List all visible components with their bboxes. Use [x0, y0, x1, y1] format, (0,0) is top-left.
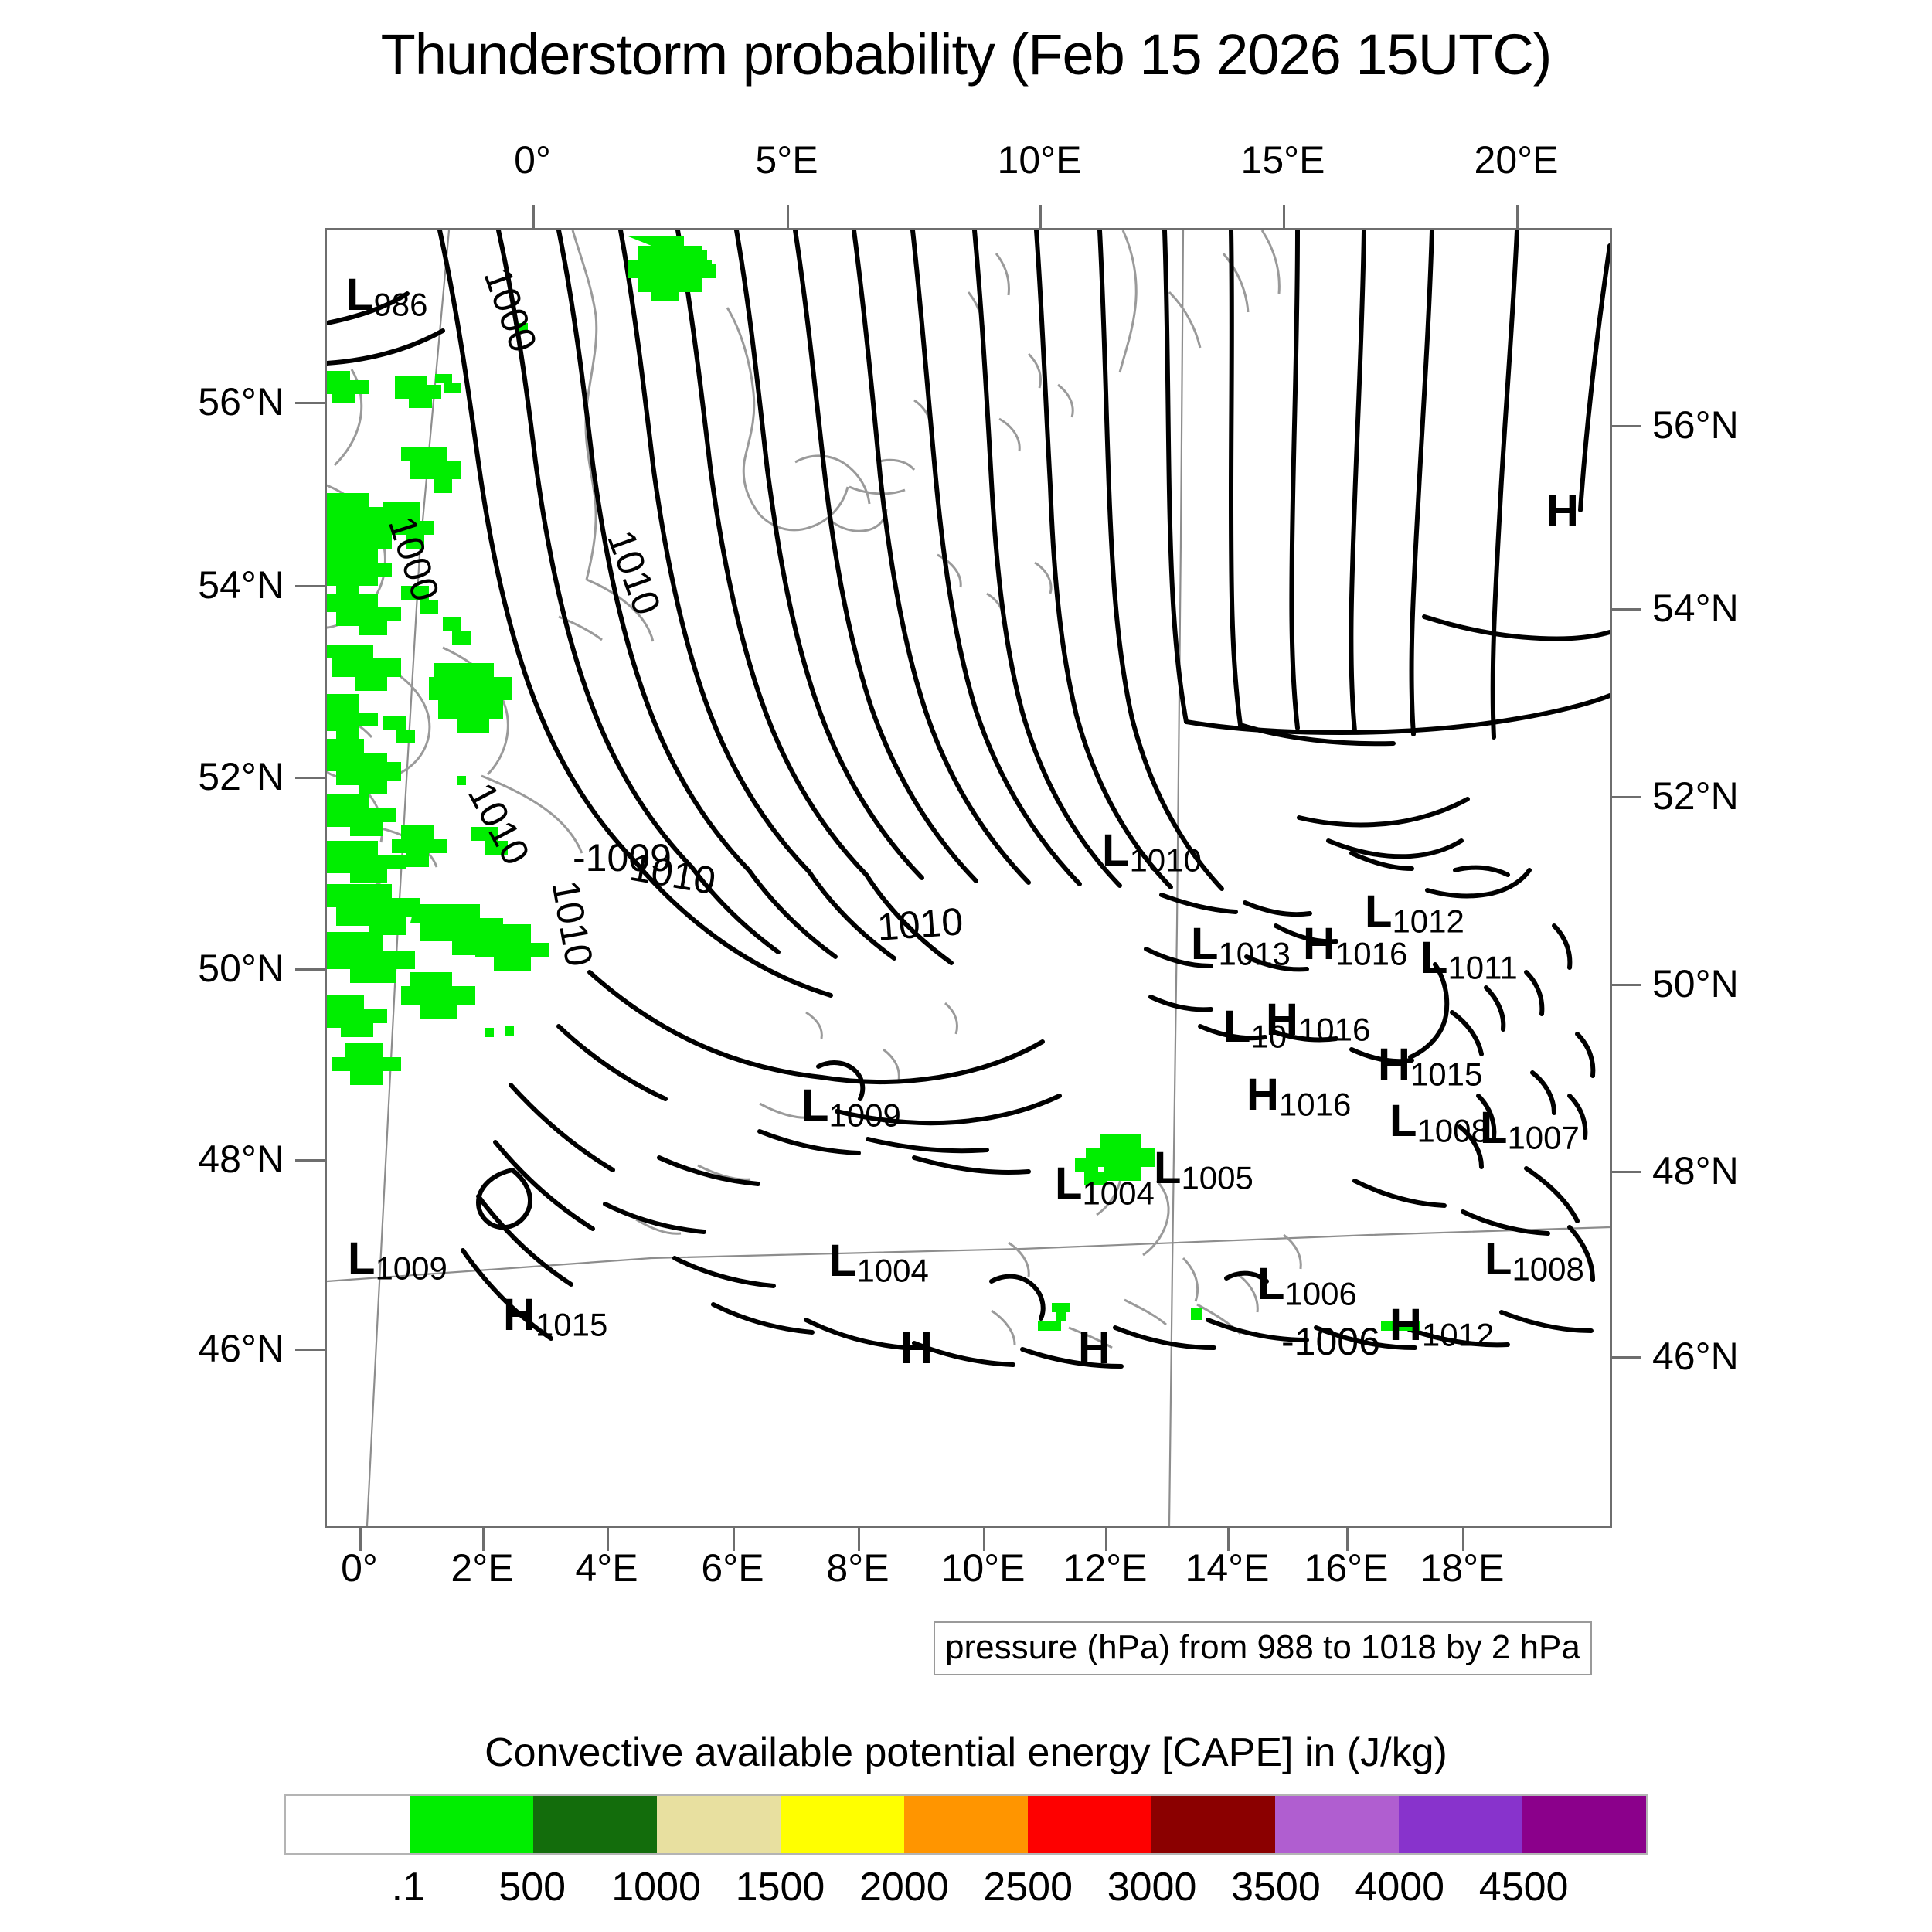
axis-tick-label: 48°N [1652, 1148, 1739, 1193]
axis-tick-label: 12°E [1063, 1546, 1148, 1590]
pressure-center-label: L1004 [829, 1239, 929, 1287]
axis-tick-mark [983, 1528, 985, 1551]
axis-tick-mark [1612, 608, 1641, 611]
colorbar-tick-label: .1 [392, 1864, 425, 1910]
axis-tick-mark [1612, 425, 1641, 427]
axis-tick-mark [1612, 1356, 1641, 1359]
pressure-center-value: 1008 [1512, 1251, 1583, 1287]
pressure-legend-box: pressure (hPa) from 988 to 1018 by 2 hPa [934, 1621, 1592, 1675]
pressure-center-label: L1009 [801, 1083, 901, 1132]
axis-tick-mark [607, 1528, 609, 1551]
pressure-center-label: L1011 [1420, 936, 1518, 985]
axis-tick-mark [1039, 205, 1042, 228]
pressure-center-label: H [1078, 1326, 1111, 1375]
axis-tick-mark [1346, 1528, 1349, 1551]
axis-tick-mark [295, 1159, 325, 1162]
map-panel[interactable]: L986HL1010L1012L1013H1016L1011L10H1016H1… [325, 228, 1612, 1528]
colorbar-swatch[interactable] [1522, 1796, 1646, 1853]
pressure-center-label: L986 [346, 273, 428, 321]
pressure-center-label: H1015 [1378, 1043, 1482, 1091]
colorbar-swatch[interactable] [657, 1796, 781, 1853]
pressure-center-value: 1016 [1335, 936, 1407, 972]
pressure-center-value: 1004 [856, 1253, 928, 1289]
pressure-center-value: 1004 [1082, 1175, 1154, 1212]
pressure-center-value: 1007 [1507, 1120, 1579, 1156]
colorbar-swatch[interactable] [1151, 1796, 1275, 1853]
pressure-center-value: 1015 [1410, 1056, 1482, 1093]
axis-tick-label: 4°E [575, 1546, 638, 1590]
axis-tick-label: 5°E [755, 138, 818, 182]
axis-tick-label: 6°E [701, 1546, 764, 1590]
pressure-center-value: 1009 [375, 1250, 447, 1287]
pressure-legend-text: pressure (hPa) from 988 to 1018 by 2 hPa [945, 1628, 1580, 1666]
colorbar-tick-label: 500 [498, 1864, 566, 1910]
axis-tick-label: 46°N [1652, 1334, 1739, 1379]
axis-tick-mark [1516, 205, 1519, 228]
contour-inline-label: -1009 [573, 838, 672, 877]
colorbar-tick-labels: .150010001500200025003000350040004500 [284, 1864, 1648, 1910]
axis-tick-label: 52°N [1652, 774, 1739, 818]
colorbar-swatch[interactable] [533, 1796, 657, 1853]
axis-tick-mark [1612, 1171, 1641, 1173]
pressure-center-label: L1006 [1257, 1262, 1357, 1311]
pressure-center-type: H [1303, 919, 1335, 969]
pressure-center-label: L1005 [1154, 1146, 1253, 1195]
pressure-center-value: 1011 [1447, 950, 1517, 986]
pressure-center-label: H1016 [1266, 998, 1370, 1046]
pressure-center-type: H [1078, 1323, 1111, 1373]
axis-tick-mark [787, 205, 789, 228]
axis-tick-mark [1105, 1528, 1107, 1551]
axis-tick-mark [1612, 796, 1641, 798]
pressure-center-type: H [1266, 995, 1298, 1045]
axis-tick-mark [482, 1528, 485, 1551]
axis-tick-label: 50°N [198, 946, 284, 991]
weather-map-figure: Thunderstorm probability (Feb 15 2026 15… [0, 0, 1932, 1932]
pressure-center-type: H [1546, 486, 1579, 536]
colorbar[interactable] [284, 1794, 1648, 1855]
pressure-center-label: L1008 [1389, 1099, 1489, 1148]
pressure-center-type: L [801, 1080, 828, 1131]
pressure-center-label: L1008 [1485, 1237, 1584, 1286]
pressure-center-label: H1016 [1247, 1073, 1351, 1121]
axis-tick-mark [1612, 984, 1641, 986]
pressure-center-type: L [346, 270, 373, 320]
colorbar-tick-label: 3500 [1231, 1864, 1321, 1910]
axis-tick-label: 18°E [1420, 1546, 1505, 1590]
pressure-center-type: H [1247, 1070, 1279, 1120]
pressure-center-label: L1009 [348, 1236, 447, 1285]
pressure-center-type: L [348, 1233, 375, 1284]
isobar-contours [327, 230, 1610, 1366]
colorbar-swatch[interactable] [410, 1796, 533, 1853]
pressure-center-type: L [1191, 919, 1218, 969]
pressure-center-label: H1012 [1389, 1303, 1494, 1352]
pressure-center-type: L [1420, 933, 1447, 983]
axis-tick-mark [532, 205, 535, 228]
colorbar-swatch[interactable] [781, 1796, 904, 1853]
pressure-center-label: L1010 [1102, 828, 1202, 877]
pressure-center-type: H [1378, 1039, 1410, 1090]
axis-tick-mark [295, 777, 325, 779]
axis-tick-label: 54°N [198, 563, 284, 607]
axis-tick-label: 16°E [1304, 1546, 1389, 1590]
axis-tick-label: 10°E [998, 138, 1082, 182]
colorbar-tick-label: 2500 [983, 1864, 1073, 1910]
colorbar-swatch[interactable] [904, 1796, 1028, 1853]
axis-tick-mark [295, 402, 325, 404]
pressure-center-type: L [1223, 1002, 1250, 1052]
pressure-center-type: L [1257, 1259, 1284, 1309]
pressure-center-label: L1013 [1191, 922, 1291, 971]
pressure-center-value: 1010 [1129, 842, 1201, 879]
axis-tick-mark [359, 1528, 362, 1551]
pressure-center-value: 1016 [1298, 1012, 1370, 1048]
pressure-center-value: 1008 [1417, 1113, 1488, 1149]
axis-tick-mark [295, 968, 325, 971]
pressure-center-value: 1006 [1284, 1276, 1356, 1312]
colorbar-swatch[interactable] [286, 1796, 410, 1853]
axis-tick-label: 48°N [198, 1137, 284, 1182]
axis-tick-mark [1283, 205, 1285, 228]
axis-tick-label: 14°E [1185, 1546, 1270, 1590]
pressure-center-label: H [1546, 489, 1579, 538]
colorbar-title: Convective available potential energy [C… [0, 1730, 1932, 1776]
axis-tick-mark [1462, 1528, 1464, 1551]
pressure-center-label: H1015 [503, 1293, 607, 1342]
axis-tick-label: 52°N [198, 754, 284, 799]
colorbar-swatch[interactable] [1028, 1796, 1151, 1853]
pressure-center-label: L1007 [1480, 1106, 1580, 1155]
axis-tick-label: 50°N [1652, 961, 1739, 1006]
axis-tick-label: 54°N [1652, 586, 1739, 631]
pressure-center-type: L [1102, 825, 1129, 876]
axis-tick-label: 2°E [451, 1546, 513, 1590]
axis-tick-label: 15°E [1241, 138, 1325, 182]
pressure-center-label: L1004 [1055, 1162, 1155, 1210]
pressure-center-value: 1013 [1218, 936, 1290, 972]
colorbar-tick-label: 1500 [736, 1864, 825, 1910]
axis-tick-label: 20°E [1475, 138, 1559, 182]
pressure-center-value: 1016 [1279, 1087, 1351, 1123]
pressure-center-type: L [1480, 1103, 1507, 1153]
pressure-center-value: 1015 [536, 1307, 607, 1343]
axis-tick-label: 56°N [1652, 403, 1739, 447]
pressure-center-type: L [1389, 1096, 1417, 1146]
pressure-center-type: H [900, 1323, 933, 1373]
axis-tick-mark [295, 1349, 325, 1351]
axis-tick-label: 0° [514, 138, 551, 182]
pressure-center-type: H [1389, 1300, 1422, 1350]
pressure-center-label: H [900, 1326, 933, 1375]
pressure-center-value: 1009 [828, 1097, 900, 1134]
pressure-center-type: L [1485, 1234, 1512, 1284]
colorbar-tick-label: 4000 [1355, 1864, 1444, 1910]
contour-inline-label: -1006 [1281, 1322, 1380, 1361]
axis-tick-label: 8°E [826, 1546, 889, 1590]
pressure-center-value: 1005 [1181, 1160, 1253, 1196]
colorbar-swatch[interactable] [1399, 1796, 1522, 1853]
pressure-center-type: H [503, 1290, 536, 1340]
colorbar-tick-label: 3000 [1107, 1864, 1197, 1910]
pressure-center-label: H1016 [1303, 922, 1407, 971]
pressure-center-type: L [1055, 1158, 1082, 1209]
pressure-center-type: L [829, 1236, 856, 1286]
colorbar-tick-label: 4500 [1479, 1864, 1569, 1910]
colorbar-tick-label: 2000 [859, 1864, 949, 1910]
axis-tick-mark [1227, 1528, 1230, 1551]
axis-tick-mark [858, 1528, 860, 1551]
axis-tick-label: 10°E [941, 1546, 1026, 1590]
page-title: Thunderstorm probability (Feb 15 2026 15… [0, 22, 1932, 87]
axis-tick-label: 46°N [198, 1326, 284, 1371]
axis-tick-label: 56°N [198, 379, 284, 424]
axis-tick-label: 0° [341, 1546, 378, 1590]
axis-tick-mark [733, 1528, 735, 1551]
pressure-center-value: 1012 [1422, 1317, 1494, 1353]
pressure-center-value: 986 [373, 287, 427, 323]
axis-tick-mark [295, 585, 325, 587]
contour-inline-label: 1010 [876, 902, 964, 947]
pressure-center-type: L [1154, 1143, 1181, 1193]
colorbar-tick-label: 1000 [611, 1864, 701, 1910]
colorbar-swatch[interactable] [1275, 1796, 1399, 1853]
